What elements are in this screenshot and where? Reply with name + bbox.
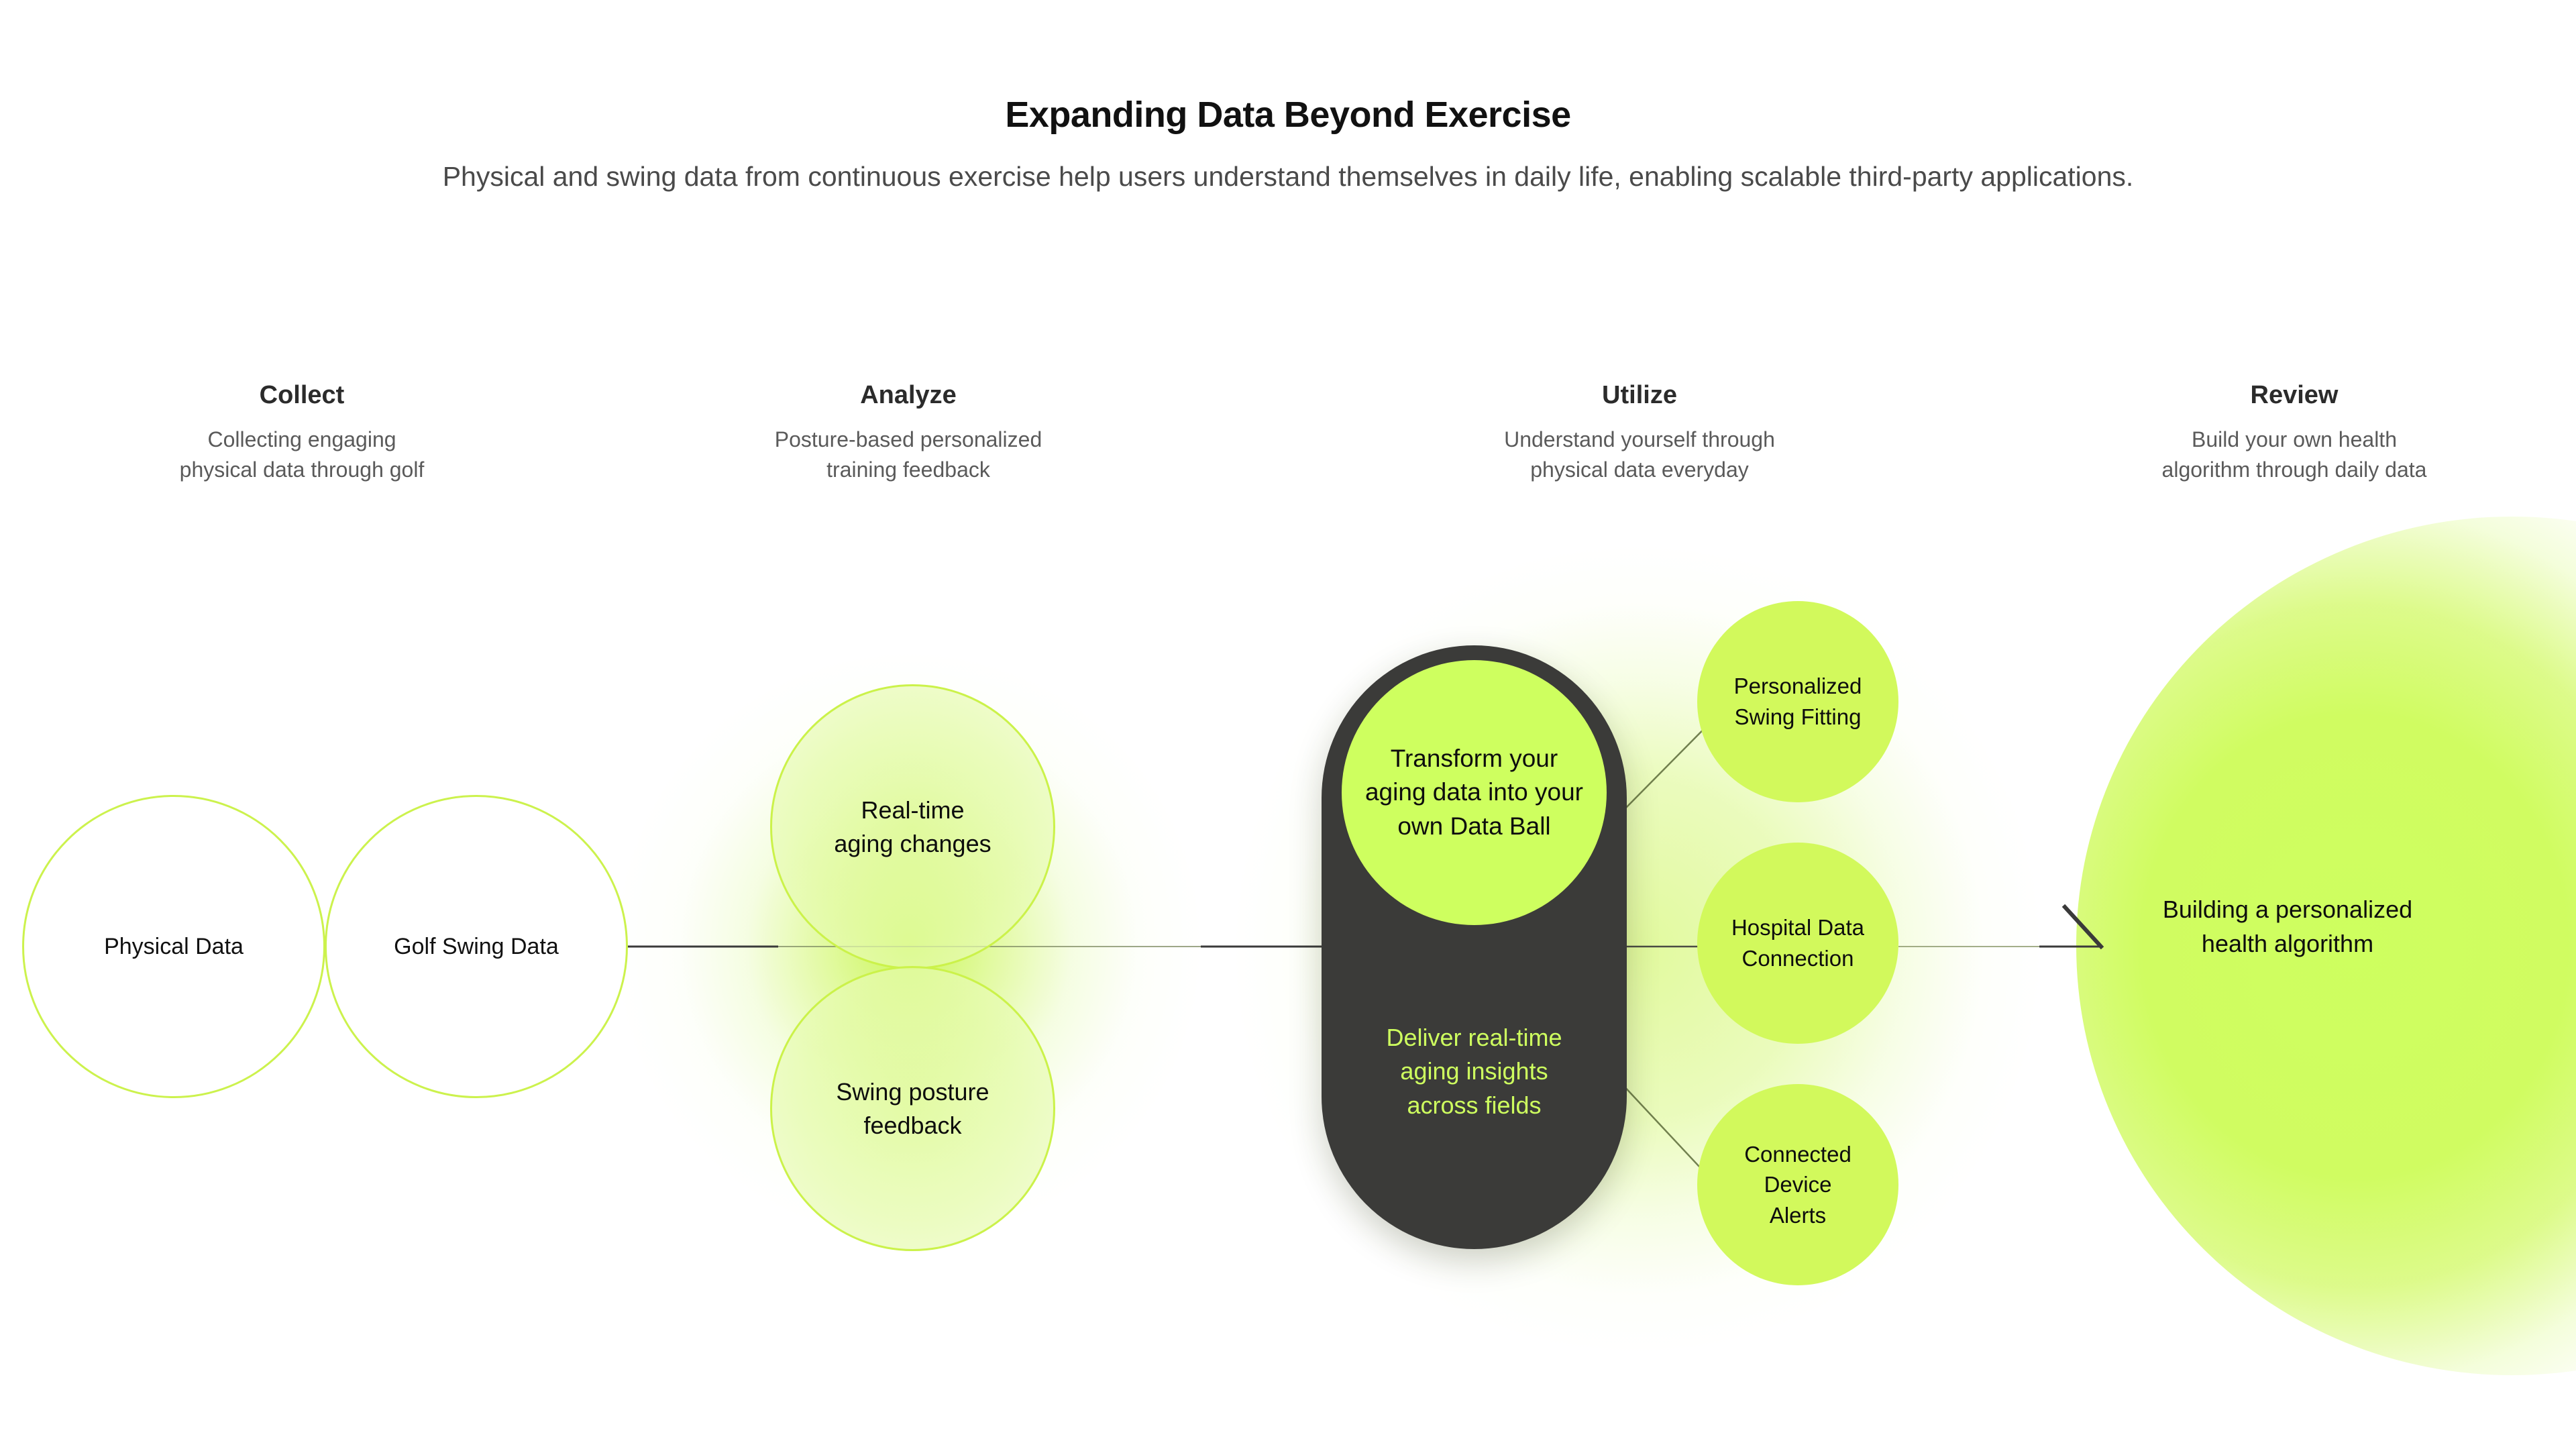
node-swing-posture-feedback-label: Swing posture feedback bbox=[836, 1075, 989, 1142]
node-data-ball-footer: Deliver real-time aging insights across … bbox=[1322, 1021, 1627, 1122]
connector-canvas bbox=[0, 0, 2576, 1449]
node-personalized-swing-fitting-label: Personalized Swing Fitting bbox=[1734, 671, 1862, 732]
node-physical-data[interactable]: Physical Data bbox=[22, 795, 325, 1098]
node-data-ball-headline: Transform your aging data into your own … bbox=[1353, 742, 1595, 843]
node-review-health-algorithm: Building a personalized health algorithm bbox=[2100, 892, 2475, 961]
node-realtime-aging-changes[interactable]: Real-time aging changes bbox=[770, 684, 1055, 969]
node-swing-posture-feedback[interactable]: Swing posture feedback bbox=[770, 966, 1055, 1251]
node-personalized-swing-fitting[interactable]: Personalized Swing Fitting bbox=[1697, 601, 1898, 802]
node-hospital-data-connection[interactable]: Hospital Data Connection bbox=[1697, 843, 1898, 1044]
node-data-ball-circle[interactable]: Transform your aging data into your own … bbox=[1342, 660, 1607, 925]
node-hospital-data-connection-label: Hospital Data Connection bbox=[1731, 912, 1864, 973]
node-physical-data-label: Physical Data bbox=[104, 931, 244, 963]
node-connected-device-alerts[interactable]: Connected Device Alerts bbox=[1697, 1084, 1898, 1285]
node-connected-device-alerts-label: Connected Device Alerts bbox=[1744, 1139, 1851, 1231]
node-golf-swing-data-label: Golf Swing Data bbox=[394, 931, 559, 963]
node-data-ball-pill[interactable]: Transform your aging data into your own … bbox=[1322, 645, 1627, 1249]
arrow-head-review bbox=[2065, 907, 2101, 947]
node-golf-swing-data[interactable]: Golf Swing Data bbox=[325, 795, 628, 1098]
node-realtime-aging-changes-label: Real-time aging changes bbox=[834, 794, 991, 860]
